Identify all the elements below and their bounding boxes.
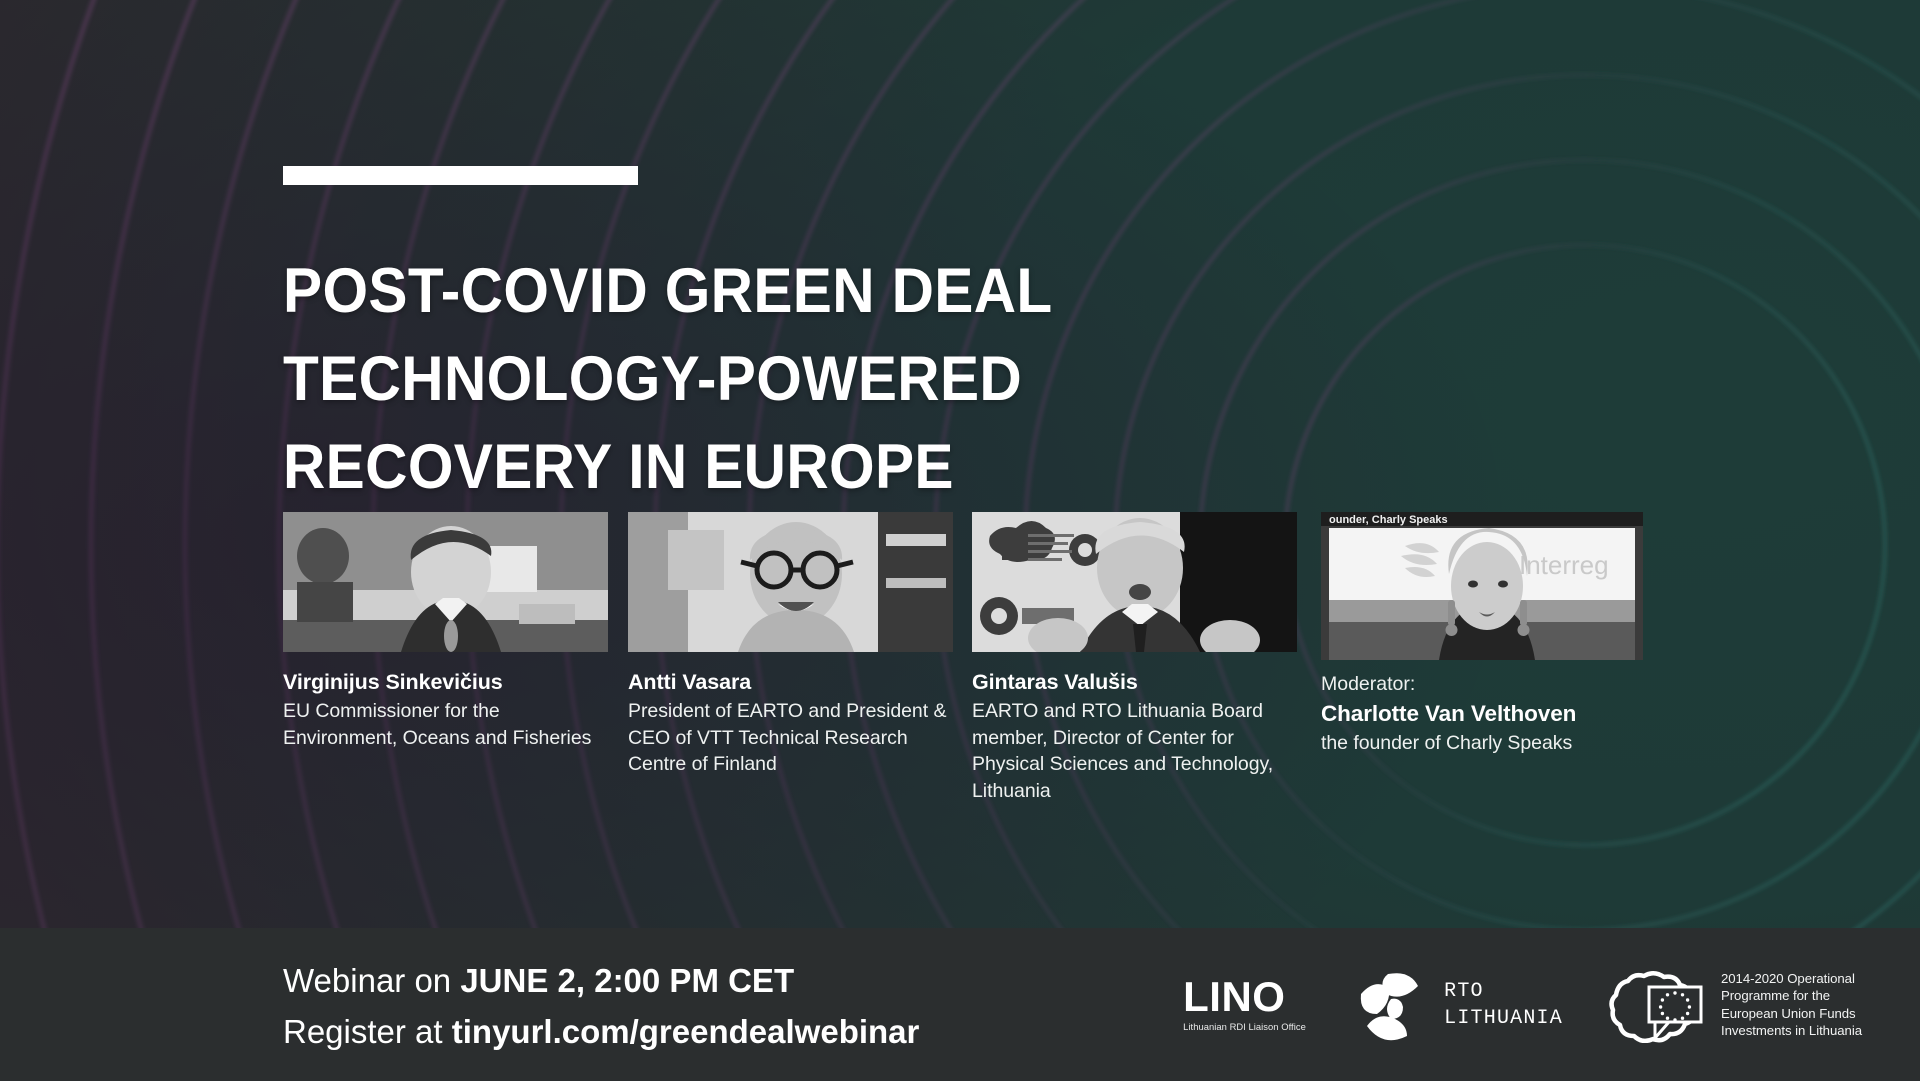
registration-url[interactable]: tinyurl.com/greendealwebinar: [452, 1013, 920, 1050]
speaker-list: Virginijus Sinkevičius EU Commissioner f…: [283, 512, 1653, 804]
speaker-photo: [628, 512, 953, 652]
speaker-card: Virginijus Sinkevičius EU Commissioner f…: [283, 512, 608, 751]
speaker-photo: [283, 512, 608, 652]
lino-tagline: Lithuanian RDI Liaison Office: [1183, 1021, 1307, 1033]
rto-lithuania-logo: RTO LITHUANIA: [1353, 968, 1563, 1042]
title-line-1: POST-COVID GREEN DEAL: [283, 247, 1232, 335]
eu-funds-text: 2014-2020 Operational Programme for the …: [1721, 970, 1862, 1039]
eu-text-line-4: Investments in Lithuania: [1721, 1022, 1862, 1039]
moderator-label: Moderator:: [1321, 671, 1643, 698]
speaker-role: EU Commissioner for the Environment, Oce…: [283, 698, 608, 751]
webinar-poster: POST-COVID GREEN DEAL TECHNOLOGY-POWERED…: [0, 0, 1920, 1081]
title-rule: [283, 166, 638, 185]
register-prefix: Register at: [283, 1013, 452, 1050]
rto-line-1: RTO: [1444, 978, 1563, 1005]
logo-row: LINO Lithuanian RDI Liaison Office RTO L…: [1183, 928, 1862, 1081]
page-title: POST-COVID GREEN DEAL TECHNOLOGY-POWERED…: [283, 247, 1232, 511]
speaker-photo: [972, 512, 1297, 652]
speaker-name: Antti Vasara: [628, 667, 953, 697]
speaker-role: EARTO and RTO Lithuania Board member, Di…: [972, 698, 1297, 804]
eu-text-line-3: European Union Funds: [1721, 1005, 1862, 1022]
title-line-2: TECHNOLOGY-POWERED: [283, 335, 1232, 423]
eu-text-line-2: Programme for the: [1721, 987, 1862, 1004]
svg-text:ounder, Charly Speaks: ounder, Charly Speaks: [1329, 514, 1448, 526]
eu-lithuania-map-icon: [1609, 967, 1709, 1043]
footer-bar: Webinar on JUNE 2, 2:00 PM CET Register …: [0, 928, 1920, 1081]
webinar-prefix: Webinar on: [283, 962, 460, 999]
webinar-datetime: JUNE 2, 2:00 PM CET: [460, 962, 794, 999]
rto-wordmark: RTO LITHUANIA: [1444, 978, 1563, 1032]
rto-line-2: LITHUANIA: [1444, 1005, 1563, 1032]
registration-line[interactable]: Register at tinyurl.com/greendealwebinar: [283, 1006, 919, 1057]
speaker-card: Antti Vasara President of EARTO and Pres…: [628, 512, 953, 778]
speaker-card: Gintaras Valušis EARTO and RTO Lithuania…: [972, 512, 1297, 804]
lino-logo: LINO Lithuanian RDI Liaison Office: [1183, 976, 1307, 1033]
rto-petal-mark: [1353, 968, 1427, 1042]
speaker-name: Virginijus Sinkevičius: [283, 667, 608, 697]
moderator-photo: ounder, Charly Speaks Interreg: [1321, 512, 1643, 660]
moderator-name: Charlotte Van Velthoven: [1321, 698, 1643, 729]
moderator-role: the founder of Charly Speaks: [1321, 730, 1643, 757]
webinar-datetime-line: Webinar on JUNE 2, 2:00 PM CET: [283, 955, 919, 1006]
speaker-name: Gintaras Valušis: [972, 667, 1297, 697]
moderator-card: ounder, Charly Speaks Interreg: [1321, 512, 1643, 757]
eu-text-line-1: 2014-2020 Operational: [1721, 970, 1862, 987]
lino-wordmark: LINO: [1183, 976, 1307, 1018]
title-line-3: RECOVERY IN EUROPE: [283, 423, 1232, 511]
svg-text:Interreg: Interreg: [1519, 550, 1609, 580]
footer-details: Webinar on JUNE 2, 2:00 PM CET Register …: [283, 955, 919, 1057]
speaker-role: President of EARTO and President & CEO o…: [628, 698, 953, 778]
eu-funds-logo: 2014-2020 Operational Programme for the …: [1609, 967, 1862, 1043]
